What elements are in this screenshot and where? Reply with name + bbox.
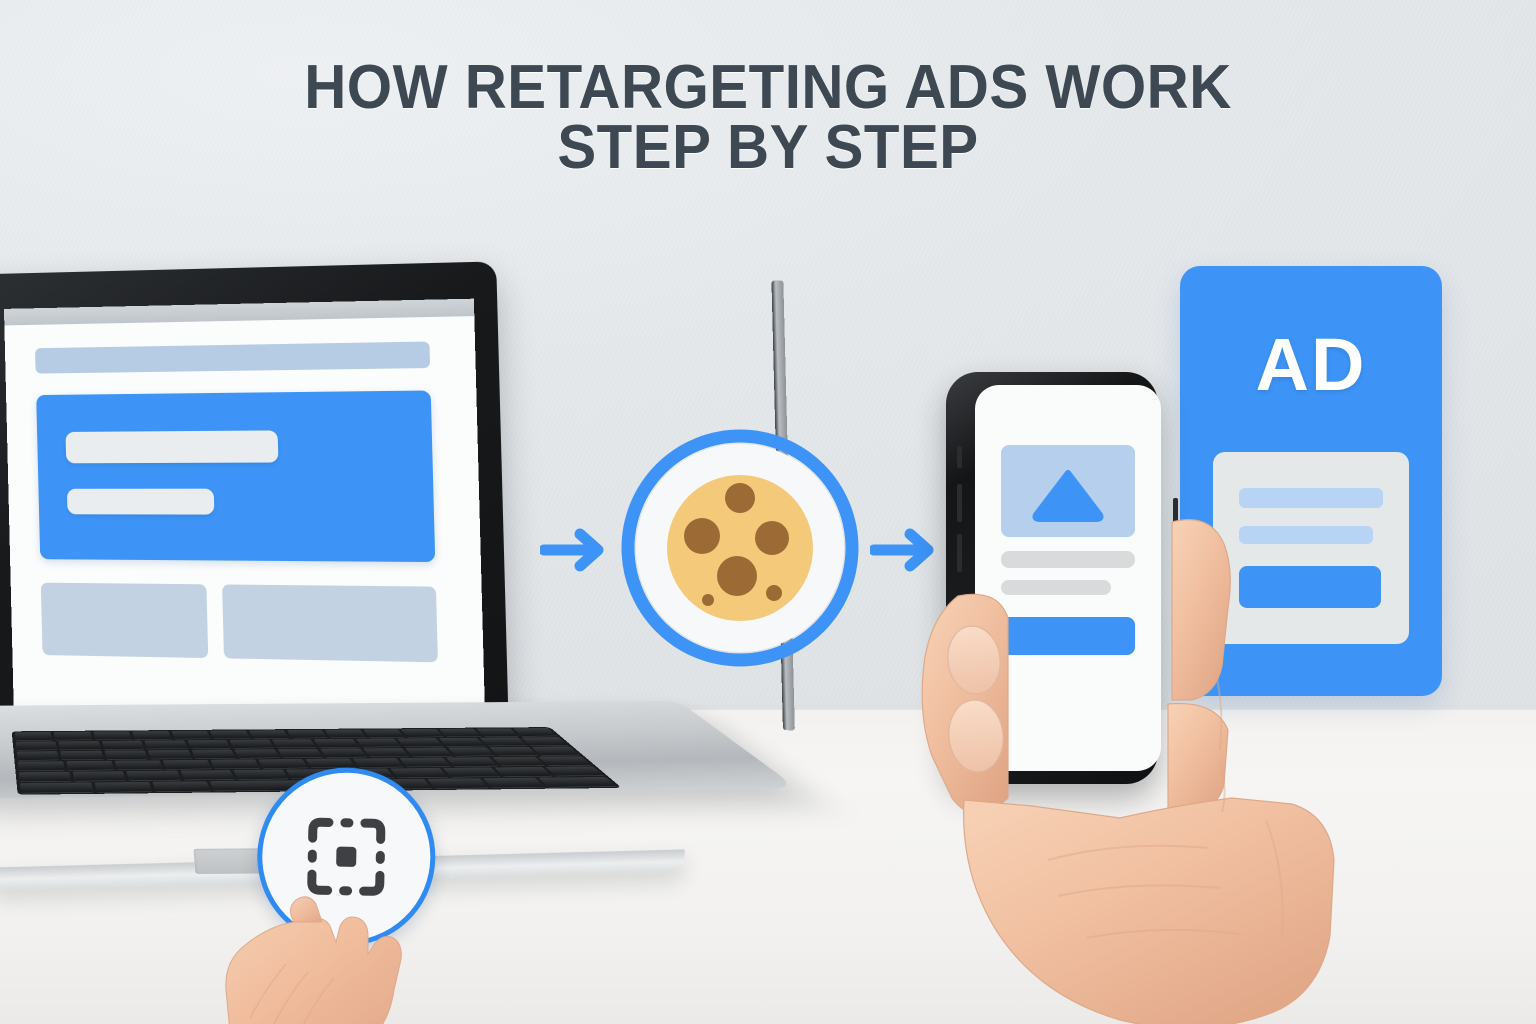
website-wireframe	[4, 316, 485, 722]
hero-line-primary	[65, 430, 278, 463]
laptop-screen[interactable]	[4, 299, 485, 722]
page-title: HOW RETARGETING ADS WORK STEP BY STEP	[46, 58, 1490, 177]
wireframe-hero-block	[36, 390, 435, 562]
wireframe-header-bar	[35, 341, 430, 373]
content-card-left	[41, 583, 208, 658]
hand-on-keyboard	[190, 822, 520, 1024]
hero-line-secondary	[67, 489, 215, 515]
cookie-badge[interactable]	[620, 428, 860, 668]
hand-holding-phone	[872, 468, 1342, 1024]
content-card-right	[222, 584, 438, 662]
infographic-canvas: HOW RETARGETING ADS WORK STEP BY STEP	[0, 0, 1536, 1024]
mute-switch[interactable]	[957, 446, 962, 468]
arrow-laptop-to-cookie	[540, 520, 612, 580]
ad-label: AD	[1180, 322, 1442, 407]
